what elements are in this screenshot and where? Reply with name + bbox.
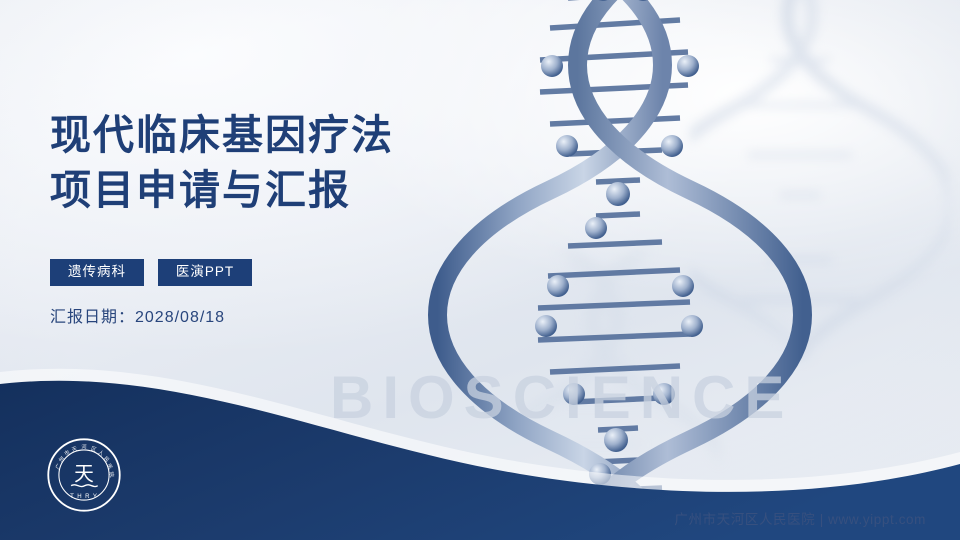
watermark-text: BIOSCIENCE <box>330 363 793 432</box>
svg-text:天: 天 <box>74 463 94 485</box>
svg-text:人: 人 <box>97 449 106 458</box>
svg-text:市: 市 <box>63 448 72 458</box>
hospital-logo-icon: 广 州 市 天 河 区 人 民 医 院 天 T H R Y <box>46 437 122 513</box>
title-line-2: 项目申请与汇报 <box>50 163 570 218</box>
tag-group: 遗传病科 医演PPT <box>50 259 252 286</box>
svg-text:区: 区 <box>90 445 98 454</box>
slide-title: 现代临床基因疗法 项目申请与汇报 <box>50 108 570 219</box>
svg-text:民: 民 <box>102 455 111 464</box>
report-date: 汇报日期：2028/08/18 <box>50 303 225 327</box>
footer-text: 广州市天河区人民医院 | www.yippt.com <box>674 508 926 528</box>
svg-text:河: 河 <box>81 442 87 450</box>
tag-template: 医演PPT <box>158 259 252 286</box>
tag-department: 遗传病科 <box>50 259 144 286</box>
svg-text:T H R Y: T H R Y <box>70 493 98 500</box>
presentation-slide: BIOSCIENCE 现代临床基因疗法 项目申请与汇报 遗传病科 医演PPT 汇… <box>0 0 960 540</box>
svg-text:州: 州 <box>58 456 66 464</box>
title-line-1: 现代临床基因疗法 <box>50 108 570 163</box>
svg-text:天: 天 <box>71 445 79 454</box>
